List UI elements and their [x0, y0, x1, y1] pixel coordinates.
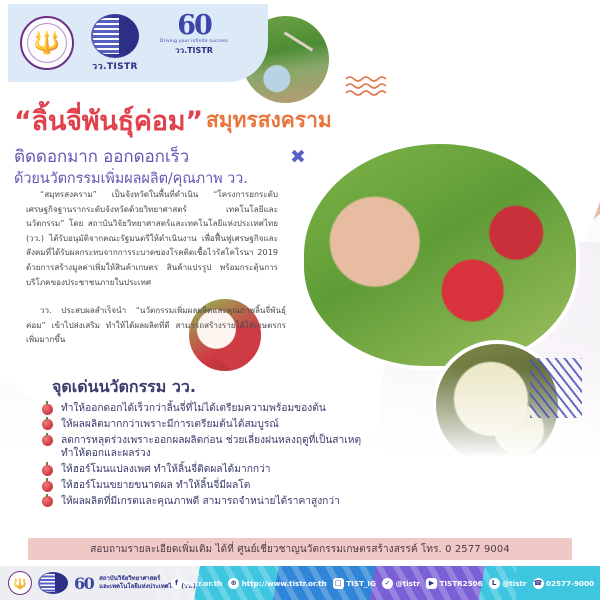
poster-canvas: วว.TISTR 60 Driving your infinite succes…	[0, 0, 600, 600]
footer-handle-text: 02577-9000	[546, 579, 594, 588]
tistr-60th-label: วว.TISTR	[156, 44, 232, 57]
tistr-logo: วว.TISTR	[84, 14, 146, 72]
body-paragraph-1: “สมุทรสงคราม” เป็นจังหวัดในพื้นที่ดำเนิน…	[26, 187, 278, 289]
tistr-60th-logo: 60 Driving your infinite success วว.TIST…	[156, 13, 232, 73]
feature-item: ให้ผลผลิตมากกว่าเพราะมีการเตรียมต้นได้สม…	[42, 418, 462, 431]
feature-item: ให้ฮอร์โมนขยายขนาดผล ทำให้ลิ้นจี่มีผลโต	[42, 479, 462, 492]
features-heading: จุดเด่นนวัตกรรม วว.	[52, 375, 196, 400]
lychee-hand-photo	[300, 140, 580, 370]
feature-item-text: ให้ฮอร์โมนแปลงเพศ ทำให้ลิ้นจี่ติดผลได้มา…	[61, 464, 271, 475]
feature-item-text: ให้ผลผลิตที่มีเกรดและคุณภาพดี สามารถจำหน…	[61, 496, 340, 507]
wave-squiggle-icon	[345, 75, 389, 97]
feature-item-continuation: ทำให้ดอกและผลร่วง	[61, 447, 462, 460]
footer-handle-text: http://www.tistr.or.th	[242, 579, 327, 588]
footer-bar: 🔱 60 สถาบันวิจัยวิทยาศาสตร์ และเทคโนโลยี…	[0, 566, 600, 600]
feature-item: ลดการหลุดร่วงเพราะออกผลผลิตก่อน ช่วยเลี่…	[42, 434, 462, 461]
footer-handle-text: TIST_IG	[346, 579, 376, 588]
royal-seal-icon	[20, 16, 74, 70]
page-title: “ลิ้นจี่พันธุ์ค่อม”สมุทรสงคราม	[14, 99, 332, 142]
footer-anniversary-number: 60	[74, 576, 93, 591]
footer-handle[interactable]: ☎02577-9000	[533, 578, 595, 589]
header-logo-strip: วว.TISTR 60 Driving your infinite succes…	[8, 4, 268, 82]
lychee-bullet-icon	[42, 496, 53, 507]
feature-item-text: ให้ฮอร์โมนขยายขนาดผล ทำให้ลิ้นจี่มีผลโต	[61, 480, 250, 491]
footer-royal-seal-icon: 🔱	[8, 571, 32, 595]
footer-handle[interactable]: ▶TISTR2506	[426, 578, 483, 589]
features-list: ทำให้ออกดอกได้เร็วกว่าลิ้นจี่ที่ไม่ได้เต…	[42, 402, 462, 511]
phone-icon: ☎	[533, 578, 544, 589]
footer-handle-text: tistr.or.th	[185, 579, 223, 588]
footer-handle-text: @tistr	[502, 579, 526, 588]
lychee-bullet-icon	[42, 435, 53, 446]
line-icon: L	[489, 578, 500, 589]
tistr-globe-icon	[91, 14, 139, 58]
feature-item-text: ให้ผลผลิตมากกว่าเพราะมีการเตรียมต้นได้สม…	[61, 419, 279, 430]
footer-handle-text: TISTR2506	[439, 579, 482, 588]
feature-item: ให้ผลผลิตที่มีเกรดและคุณภาพดี สามารถจำหน…	[42, 495, 462, 508]
feature-item: ทำให้ออกดอกได้เร็วกว่าลิ้นจี่ที่ไม่ได้เต…	[42, 402, 462, 415]
anniversary-number: 60	[156, 13, 232, 39]
feature-item-text: ลดการหลุดร่วงเพราะออกผลผลิตก่อน ช่วยเลี่…	[61, 435, 361, 446]
contact-bar: สอบถามรายละเอียดเพิ่มเติม ได้ที่ ศูนย์เช…	[28, 538, 572, 560]
lychee-bullet-icon	[42, 404, 53, 415]
footer-handle-text: @tistr	[396, 579, 420, 588]
feature-item-text: ทำให้ออกดอกได้เร็วกว่าลิ้นจี่ที่ไม่ได้เต…	[61, 403, 326, 414]
subtitle-line-1: ติดดอกมาก ออกดอกเร็ว	[14, 143, 189, 170]
footer-handle[interactable]: ✓@tistr	[382, 578, 420, 589]
footer-tistr-globe-icon	[38, 572, 68, 594]
website-icon: ⊕	[228, 578, 239, 589]
tistr-logo-label: วว.TISTR	[84, 59, 146, 73]
youtube-icon: ▶	[426, 578, 437, 589]
feature-item: ให้ฮอร์โมนแปลงเพศ ทำให้ลิ้นจี่ติดผลได้มา…	[42, 463, 462, 476]
title-province: สมุทรสงคราม	[206, 108, 332, 132]
title-main: “ลิ้นจี่พันธุ์ค่อม”	[14, 106, 203, 137]
lychee-bullet-icon	[42, 481, 53, 492]
diagonal-hatch-decor	[530, 358, 582, 418]
footer-handle[interactable]: ftistr.or.th	[171, 578, 222, 589]
contact-bar-text: สอบถามรายละเอียดเพิ่มเติม ได้ที่ ศูนย์เช…	[90, 542, 510, 557]
facebook-icon: f	[171, 578, 182, 589]
lychee-bullet-icon	[42, 419, 53, 430]
footer-handle[interactable]: ⊕http://www.tistr.or.th	[228, 578, 327, 589]
lychee-bullet-icon	[42, 465, 53, 476]
footer-handle[interactable]: L@tistr	[489, 578, 527, 589]
footer-social-handles: ftistr.or.th⊕http://www.tistr.or.th□TIST…	[171, 566, 594, 600]
cross-mark-icon: ✖	[290, 148, 306, 167]
footer-handle[interactable]: □TIST_IG	[333, 578, 376, 589]
footer-logos: 🔱 60 สถาบันวิจัยวิทยาศาสตร์ และเทคโนโลยี…	[8, 566, 196, 600]
twitter-icon: ✓	[382, 578, 393, 589]
instagram-icon: □	[333, 578, 344, 589]
body-paragraph-2: วว. ประสบผลสำเร็จนำ “นวัตกรรมเพิ่มผลผลิต…	[26, 303, 286, 347]
